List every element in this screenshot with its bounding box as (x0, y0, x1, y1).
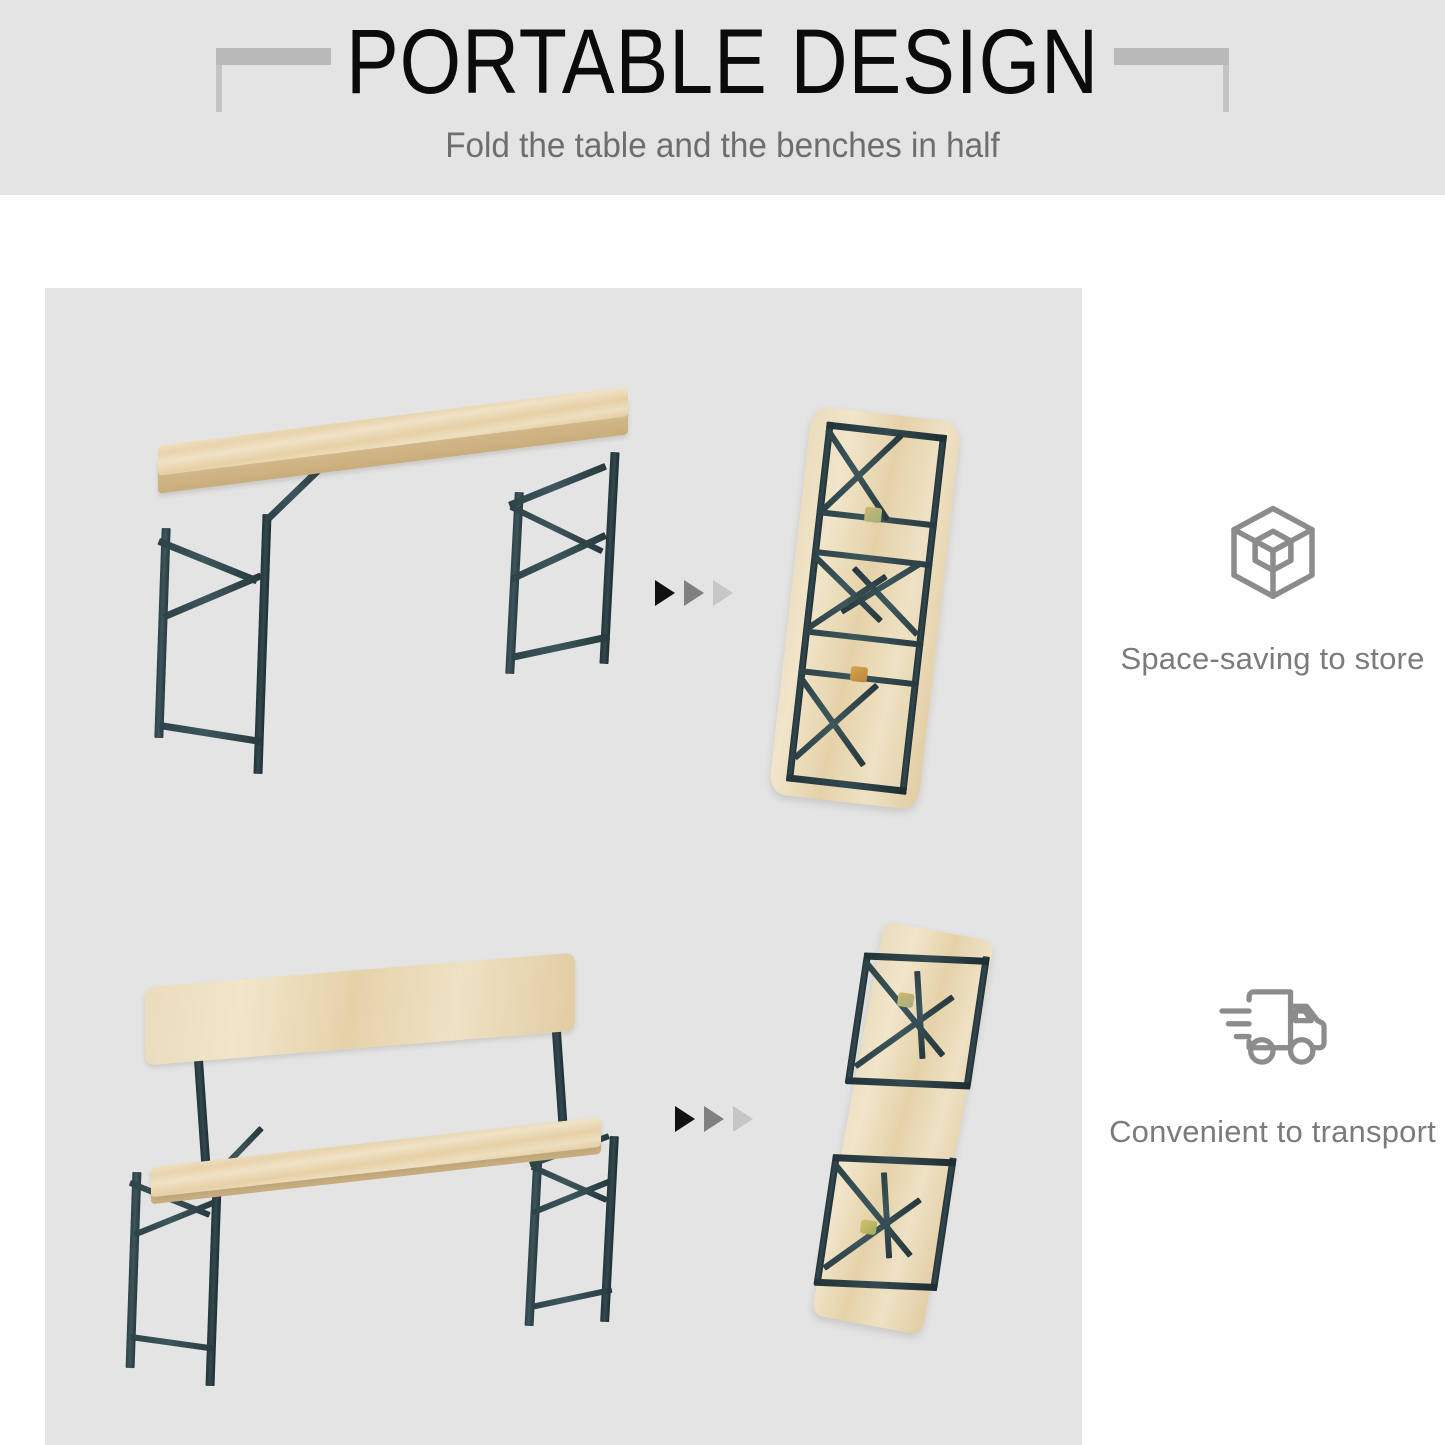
table-foot-rail (159, 722, 263, 745)
box-cube-icon (1100, 495, 1445, 613)
frame-rail (833, 1154, 956, 1166)
fold-arrow-group-bench (675, 1106, 753, 1132)
fold-arrow-group-table (655, 580, 733, 606)
table-brace (162, 573, 262, 621)
arrow-right-icon (733, 1106, 753, 1132)
bench-foot-rail (130, 1334, 214, 1352)
feature-caption: Convenient to transport (1100, 1114, 1445, 1150)
folded-bench-leg-unit (813, 1140, 966, 1308)
bench-backrest (145, 953, 575, 1066)
page-subtitle: Fold the table and the benches in half (36, 128, 1409, 163)
folding-hinge (860, 1219, 878, 1235)
arrow-right-icon (675, 1106, 695, 1132)
frame-x-brace (793, 683, 879, 760)
bench-leg (525, 1156, 543, 1326)
frame-rail (930, 1157, 956, 1289)
table-foot-rail (511, 633, 610, 661)
feature-space-saving: Space-saving to store (1100, 495, 1445, 677)
frame-rail (964, 956, 990, 1088)
folded-bench-leg-unit (844, 939, 997, 1107)
arrow-right-icon (704, 1106, 724, 1132)
table-brace (508, 463, 607, 508)
page-title: PORTABLE DESIGN (101, 16, 1344, 108)
table-brace (510, 532, 607, 582)
feature-caption: Space-saving to store (1100, 641, 1445, 677)
folding-hinge (850, 666, 869, 683)
table-brace (157, 538, 258, 584)
frame-rail (845, 1077, 970, 1089)
table-leg (154, 528, 170, 738)
arrow-right-icon (713, 580, 733, 606)
frame-rail (864, 952, 989, 964)
table-leg (505, 492, 524, 674)
arrow-right-icon (684, 580, 704, 606)
frame-cross-rail (803, 628, 924, 648)
frame-brace (881, 1172, 892, 1258)
bench-brace (133, 1200, 215, 1238)
folding-hinge (897, 992, 915, 1008)
product-gallery-panel (45, 288, 1082, 1445)
feature-convenient-transport: Convenient to transport (1100, 968, 1445, 1150)
table-brace (509, 504, 603, 554)
header-band: PORTABLE DESIGN Fold the table and the b… (0, 0, 1445, 195)
table-leg (253, 514, 271, 774)
product-image-bench-unfolded (115, 960, 655, 1390)
table-leg (599, 452, 619, 664)
infographic-page: PORTABLE DESIGN Fold the table and the b… (0, 0, 1445, 1445)
frame-rail (814, 1279, 937, 1291)
arrow-right-icon (655, 580, 675, 606)
product-image-table-unfolded (140, 406, 650, 836)
product-image-table-folded (768, 406, 961, 810)
product-image-bench-folded (800, 919, 1006, 1337)
folding-hinge (864, 506, 883, 523)
delivery-truck-icon (1100, 968, 1445, 1086)
